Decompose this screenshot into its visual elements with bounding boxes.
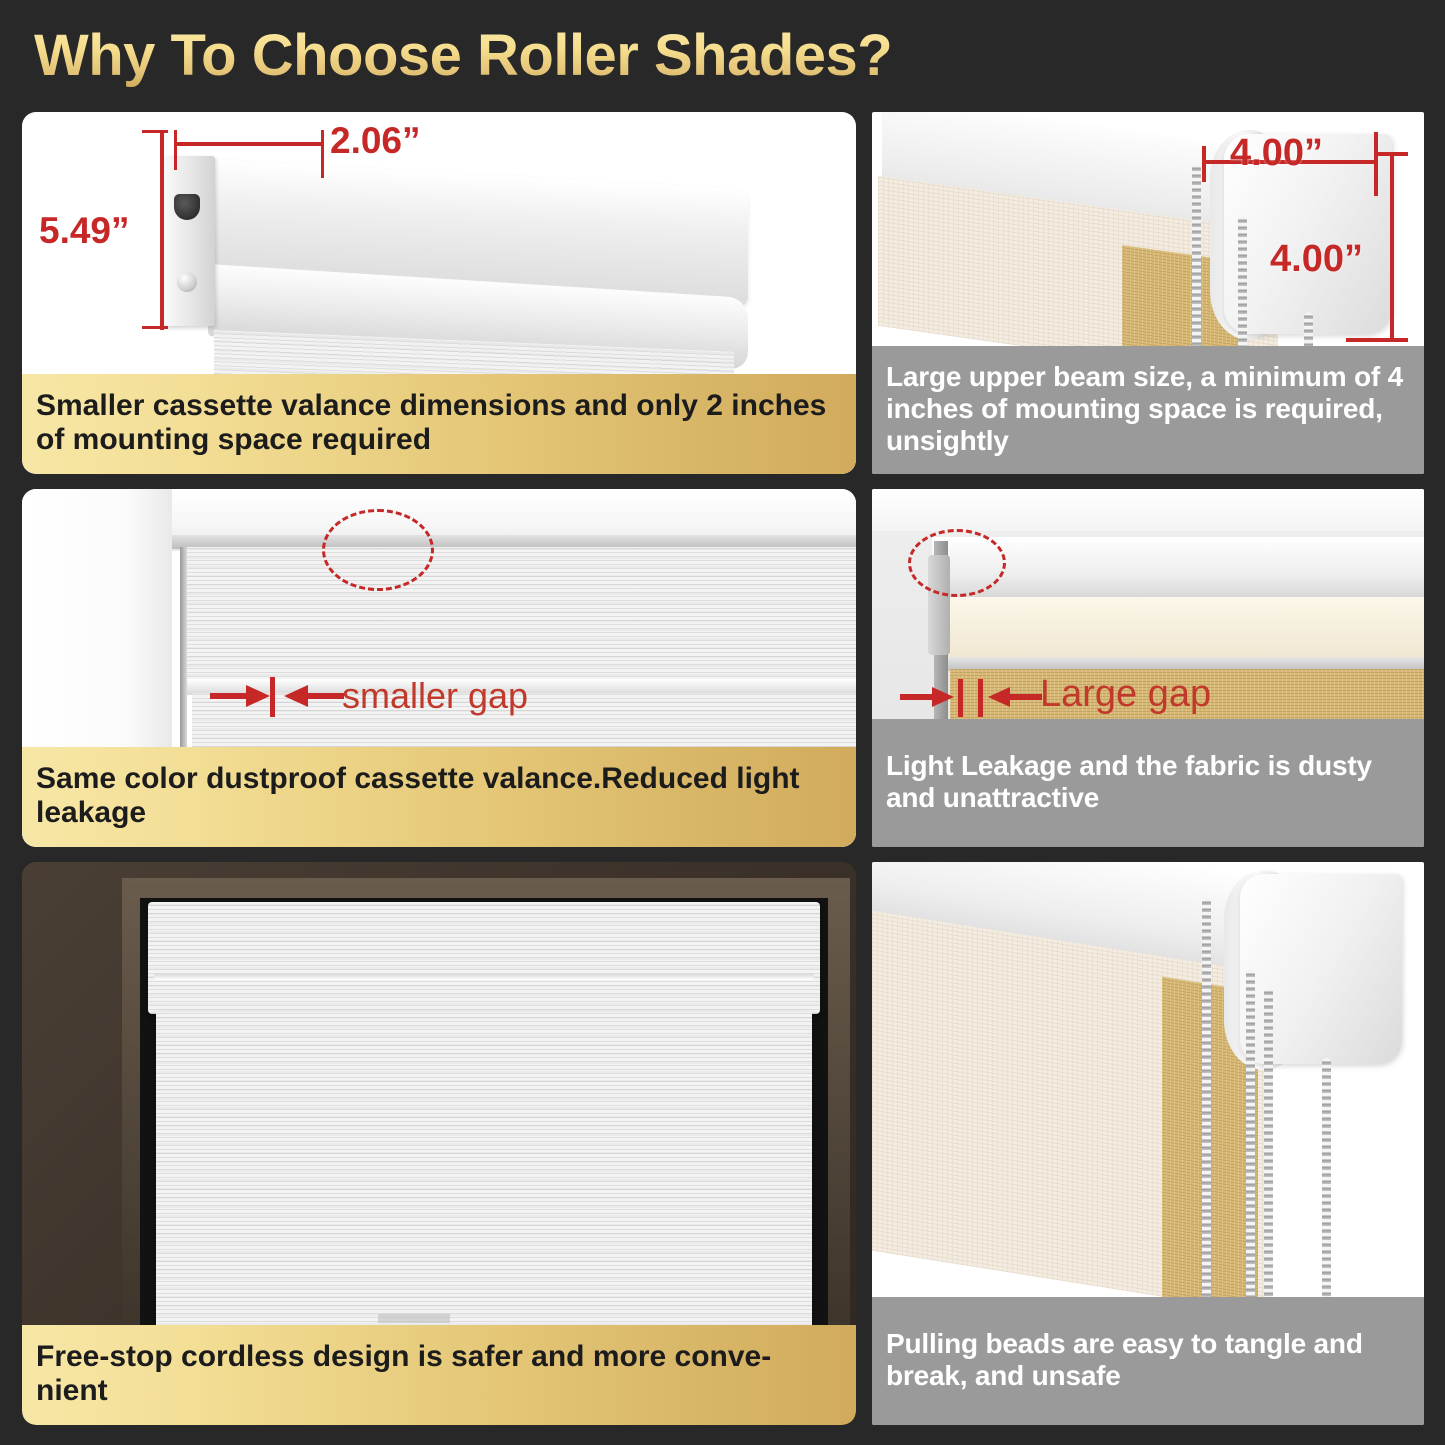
mounting-bracket	[163, 156, 215, 326]
gap-marker-left	[958, 679, 963, 717]
panel-con-bead-chain: Pulling beads are easy to tangle and bre…	[872, 862, 1424, 1425]
bead-chain-mid-a	[1246, 970, 1255, 1328]
width-dimension-label: 2.06”	[330, 120, 421, 162]
caption-pro-dustproof-valance: Same color dustproof cassette valance.Re…	[22, 747, 856, 847]
gap-callout-label: Large gap	[1040, 673, 1211, 716]
height-dim-line	[1390, 152, 1394, 342]
caption-pro-cordless: Free-stop cordless design is safer and m…	[22, 1325, 856, 1425]
panel-con-light-leakage: Large gap Light Leakage and the fabric i…	[872, 489, 1424, 847]
panel-con-beam-size: 4.00” 4.00” Large upper beam size, a min…	[872, 112, 1424, 474]
gap-marker-right	[978, 679, 983, 717]
width-dim-tick-right	[1374, 132, 1378, 196]
height-dimension-label: 5.49”	[39, 210, 130, 252]
highlight-circle-icon	[322, 509, 434, 591]
panel-pro-dustproof-valance: smaller gap Same color dustproof cassett…	[22, 489, 856, 847]
gap-marker	[270, 677, 275, 717]
shade-fabric	[156, 1012, 812, 1334]
caption-pro-cassette-size: Smaller cassette valance dimensions and …	[22, 374, 856, 474]
bracket-screw	[177, 272, 197, 292]
width-dim-tick-left	[1202, 146, 1206, 182]
bead-chain-right	[1322, 1058, 1331, 1326]
highlight-circle-icon	[908, 529, 1006, 597]
width-dim-line	[174, 142, 324, 146]
headrail-edge	[154, 974, 814, 980]
height-dim-tick-bottom	[1346, 338, 1408, 342]
width-dimension-label: 4.00”	[1230, 132, 1323, 175]
width-dim-tick-left	[174, 130, 177, 170]
gap-arrow-left-icon	[210, 683, 272, 709]
gap-arrow-right-icon	[282, 683, 344, 709]
comparison-grid: 2.06” 5.49” Smaller cassette valance dim…	[0, 0, 1445, 1445]
fabric-band	[938, 597, 1424, 659]
bead-chain-mid-b	[1264, 988, 1273, 1328]
caption-con-light-leakage: Light Leakage and the fabric is dusty an…	[872, 719, 1424, 847]
height-dim-tick-top	[1378, 152, 1408, 156]
gap-arrow-right-icon	[986, 685, 1042, 709]
bead-chain-left	[1202, 898, 1211, 1328]
panel-pro-cassette-size: 2.06” 5.49” Smaller cassette valance dim…	[22, 112, 856, 474]
height-dimension-label: 4.00”	[1270, 238, 1363, 281]
height-dim-tick-bottom	[142, 326, 168, 329]
height-dim-tick-top	[142, 130, 168, 133]
gap-arrow-left-icon	[900, 685, 956, 709]
brand-logo	[378, 1314, 450, 1323]
width-dim-tick-right	[321, 130, 324, 178]
panel-pro-cordless: Free-stop cordless design is safer and m…	[22, 862, 856, 1425]
caption-con-beam-size: Large upper beam size, a minimum of 4 in…	[872, 346, 1424, 474]
bracket-slot	[174, 194, 200, 220]
height-dim-line	[160, 130, 164, 330]
cassette-headrail	[148, 902, 820, 1014]
ceiling-strip	[872, 489, 1424, 531]
cassette-valance	[182, 547, 856, 685]
caption-con-bead-chain: Pulling beads are easy to tangle and bre…	[872, 1297, 1424, 1425]
gap-callout-label: smaller gap	[342, 675, 528, 717]
